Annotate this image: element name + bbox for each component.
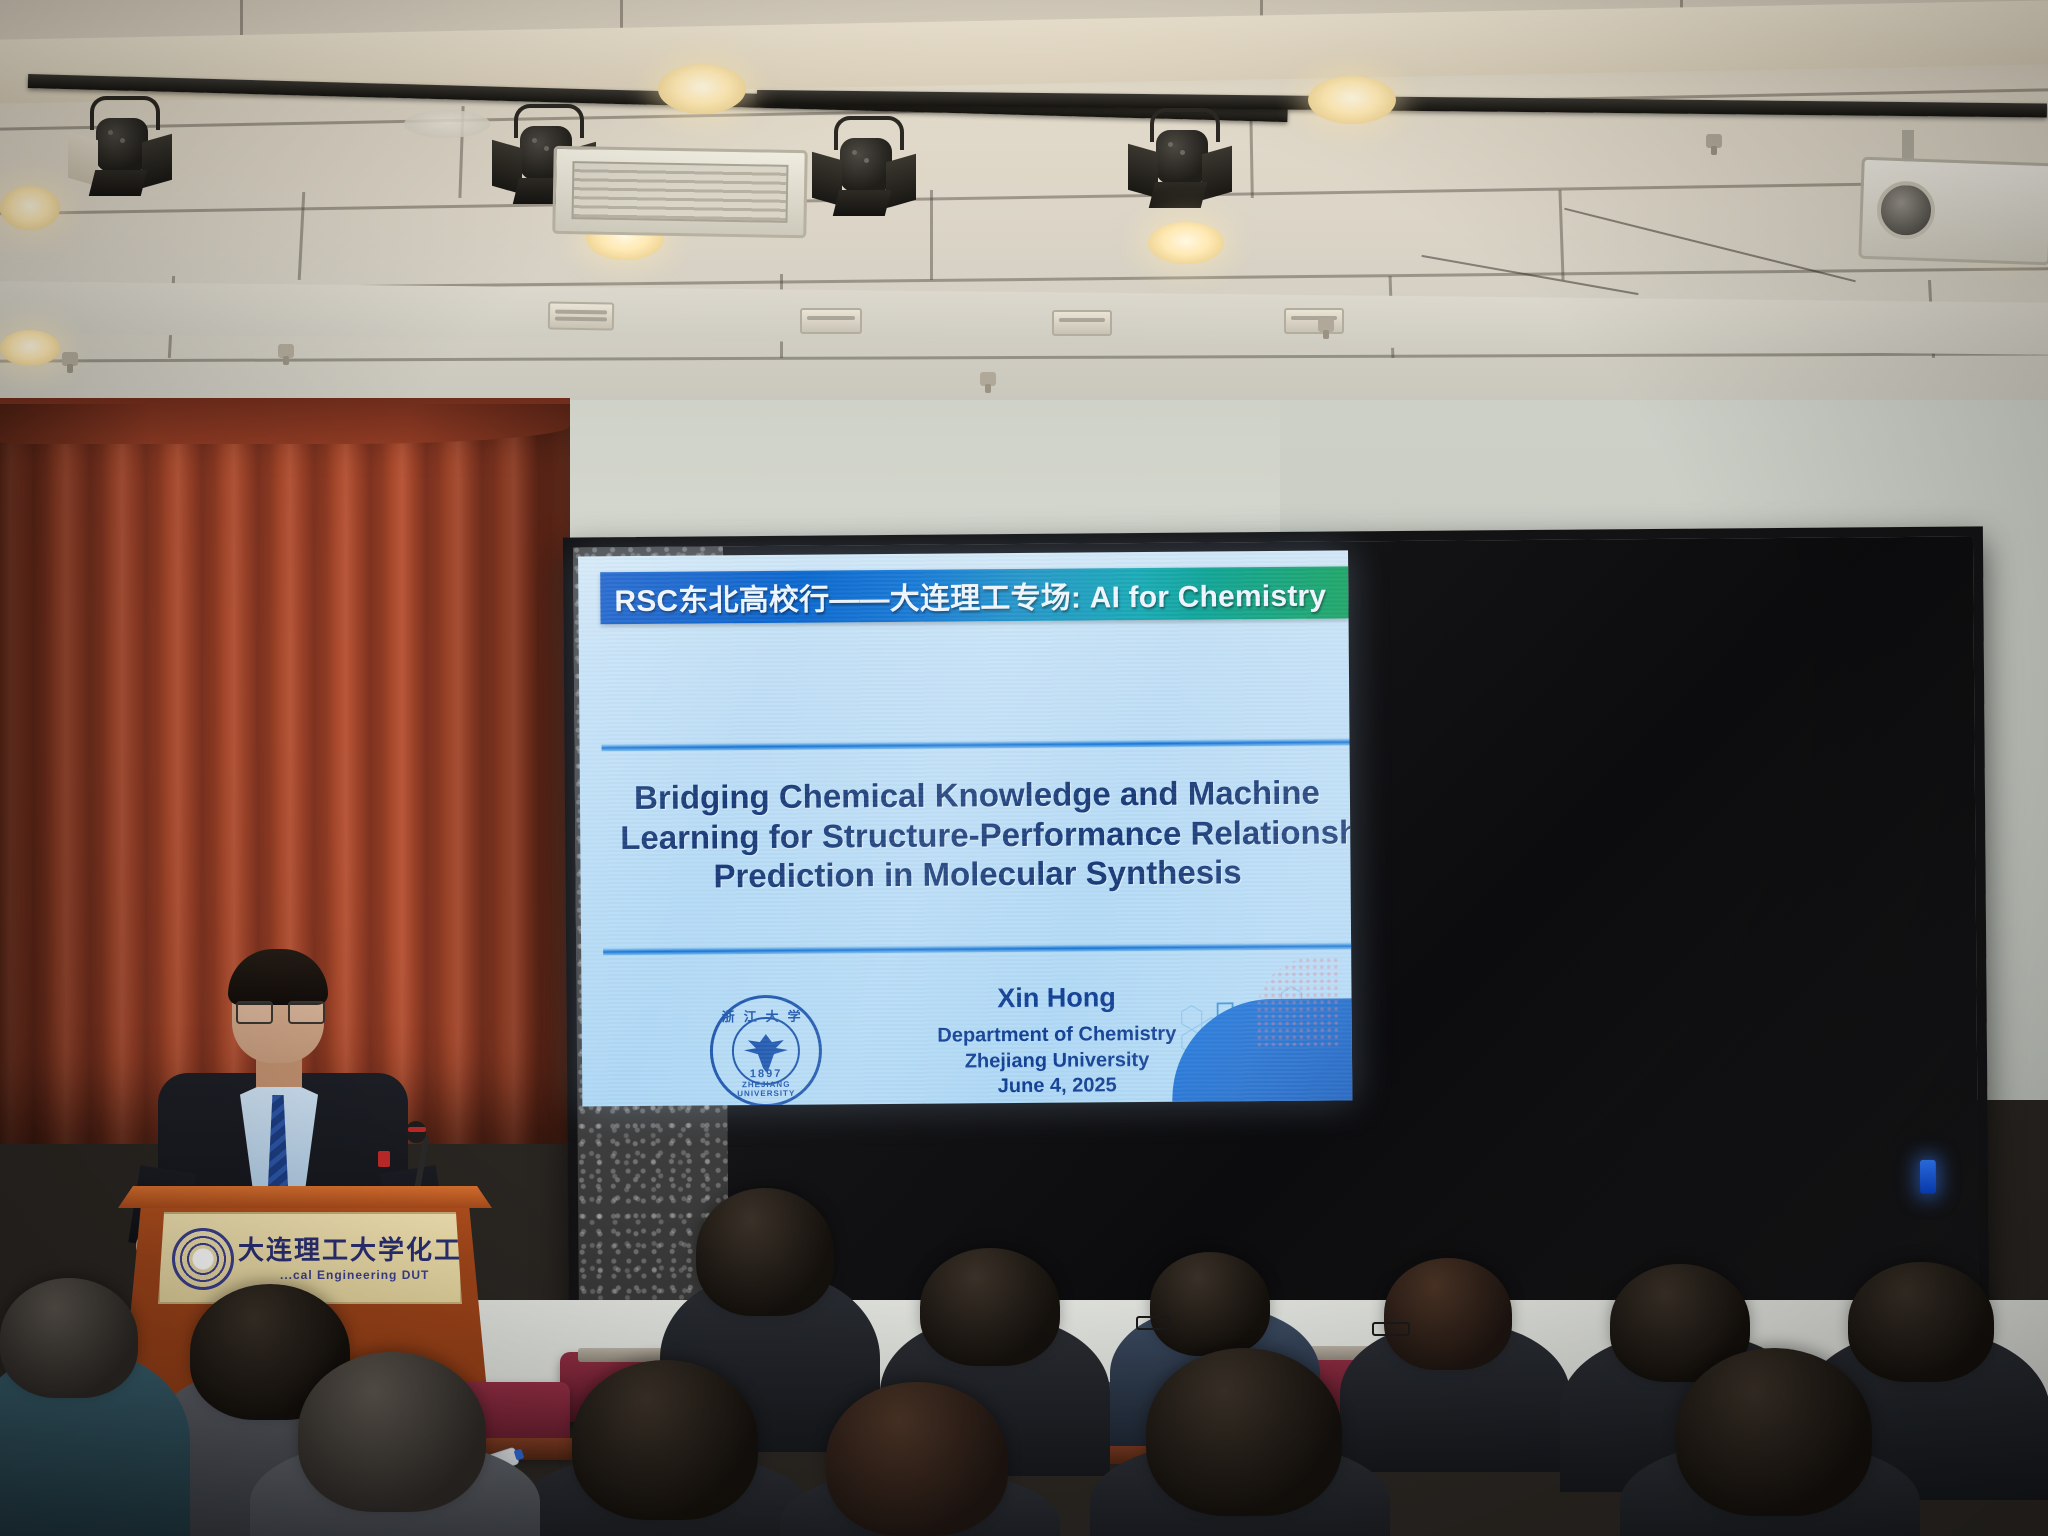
audience-head — [1676, 1348, 1872, 1516]
audience-head — [920, 1248, 1060, 1366]
ceiling-downlight-5 — [1148, 222, 1224, 264]
track-spotlight-3 — [820, 116, 912, 224]
slide-main-title: Bridging Chemical Knowledge and Machine … — [620, 773, 1335, 897]
sprinkler-head-1 — [1706, 134, 1722, 148]
ceiling-vent-2 — [800, 308, 862, 334]
audience-head — [696, 1188, 834, 1316]
author-department: Department of Chemistry — [912, 1022, 1202, 1050]
author-institution: Zhejiang University — [912, 1047, 1202, 1075]
audience-head — [0, 1278, 138, 1398]
sprinkler-head-4 — [980, 372, 996, 386]
author-name: Xin Hong — [911, 982, 1201, 1015]
lecture-hall-photo: RSC东北高校行——大连理工专场: AI for Chemistry Bridg… — [0, 0, 2048, 1536]
audience-head — [572, 1360, 758, 1520]
zju-phoenix-icon — [738, 1028, 794, 1072]
speaker-lapel-pin — [378, 1151, 390, 1167]
speaker-hair — [228, 949, 328, 1005]
lectern-sign-chinese: 大连理工大学化工学院 — [238, 1230, 462, 1267]
zhejiang-university-seal-icon: 浙江大学 1897 ZHEJIANG UNIVERSITY — [710, 995, 823, 1107]
slide-title-line-2: Learning for Structure-Performance Relat… — [620, 812, 1334, 857]
track-spotlight-4 — [1136, 108, 1228, 216]
slide-divider-top — [602, 738, 1350, 751]
audience-head — [298, 1352, 486, 1512]
microphone-band — [408, 1127, 426, 1132]
slide-author-block: Xin Hong Department of Chemistry Zhejian… — [911, 982, 1202, 1101]
speaker-eyeglasses-icon — [236, 1001, 322, 1021]
lectern-top-edge — [118, 1186, 492, 1208]
ceiling-vent-1 — [548, 301, 614, 330]
audience-head — [1384, 1258, 1512, 1370]
ceiling-ac-unit — [552, 146, 807, 238]
audience-glasses-icon — [1372, 1322, 1410, 1336]
sprinkler-head-3 — [278, 344, 294, 358]
presentation-date: June 4, 2025 — [912, 1073, 1202, 1101]
ceiling-downlight-3 — [1308, 76, 1396, 124]
lectern-sign-english: ...cal Engineering DUT — [280, 1268, 429, 1282]
zju-seal-english: ZHEJIANG UNIVERSITY — [713, 1080, 819, 1099]
ceiling-vent-3 — [1052, 310, 1112, 336]
ceiling-downlight-1 — [0, 186, 60, 230]
ceiling-diffuser-left — [404, 110, 490, 138]
slide-header-band: RSC东北高校行——大连理工专场: AI for Chemistry — [600, 566, 1348, 624]
ceiling-downlight-2 — [658, 64, 746, 114]
sprinkler-head-2 — [62, 352, 78, 366]
ceiling — [0, 0, 2048, 410]
sprinkler-head-5 — [1318, 318, 1334, 332]
audience-head — [1150, 1252, 1270, 1356]
ceiling-projector — [1858, 157, 2048, 266]
slide-title-line-1: Bridging Chemical Knowledge and Machine — [620, 773, 1334, 818]
audience-glasses-icon — [1136, 1316, 1170, 1330]
audience-head — [826, 1382, 1008, 1536]
slide-title-line-3: Prediction in Molecular Synthesis — [620, 852, 1334, 897]
slide-header-title: RSC东北高校行——大连理工专场: AI for Chemistry — [600, 571, 1326, 621]
lectern-nameplate: 大连理工大学化工学院 ...cal Engineering DUT — [158, 1212, 462, 1304]
zju-seal-year: 1897 — [713, 1068, 819, 1081]
audience-head — [1146, 1348, 1342, 1516]
audience-head — [1848, 1262, 1994, 1382]
slide-divider-bottom — [603, 942, 1351, 955]
track-spotlight-1 — [76, 96, 168, 204]
ceiling-downlight-6 — [0, 330, 60, 366]
ceiling-vent-4 — [1284, 308, 1344, 334]
presentation-slide: RSC东北高校行——大连理工专场: AI for Chemistry Bridg… — [578, 550, 1352, 1106]
slide-corner-dot-pattern — [1255, 956, 1342, 1049]
microphone-head-icon — [406, 1121, 426, 1143]
dut-emblem-icon — [172, 1228, 234, 1290]
screen-power-led-icon — [1920, 1160, 1936, 1194]
